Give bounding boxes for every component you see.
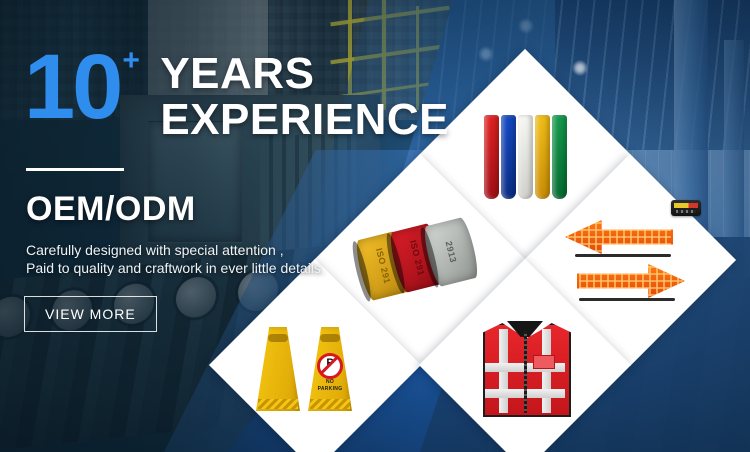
title-divider — [26, 168, 124, 171]
vest-pocket — [533, 355, 555, 369]
plus-sign: + — [122, 44, 140, 78]
roll-yellow — [535, 115, 550, 199]
arrow-board-left — [565, 220, 673, 254]
arrow-mount-bar-top — [575, 254, 671, 257]
years-number: 10 — [24, 44, 120, 130]
subtitle-line-2: Paid to quality and craftwork in ever li… — [26, 260, 325, 276]
promo-banner: ISO 291 ISO 291 2913 — [0, 0, 750, 452]
headline-group: 10+ YEARS EXPERIENCE — [24, 44, 449, 144]
subtitle: Carefully designed with special attentio… — [26, 241, 325, 277]
service-title: OEM/ODM — [26, 190, 196, 229]
view-more-button[interactable]: VIEW MORE — [24, 296, 157, 332]
subtitle-line-1: Carefully designed with special attentio… — [26, 242, 284, 258]
headline-line-1: YEARS — [160, 52, 449, 96]
vest-zipper — [524, 331, 527, 413]
led-controller-box — [671, 200, 701, 216]
banner-content: 10+ YEARS EXPERIENCE OEM/ODM Carefully d… — [0, 0, 520, 452]
headline-text: YEARS EXPERIENCE — [160, 52, 449, 144]
headline-line-2: EXPERIENCE — [160, 96, 449, 144]
